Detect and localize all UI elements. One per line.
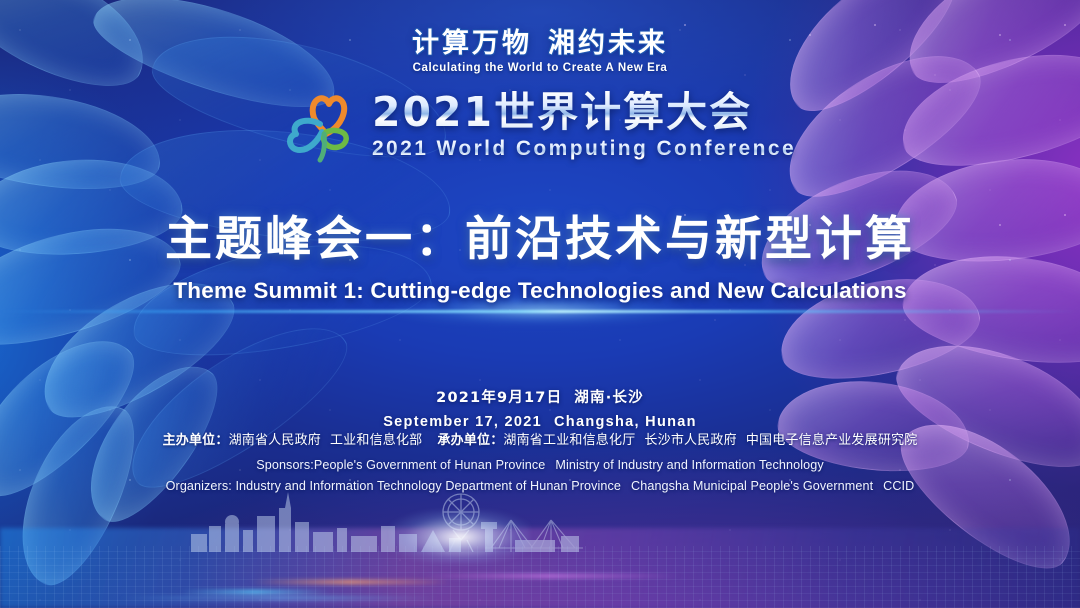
tagline-block: 计算万物湘约未来 Calculating the World to Create… [0,30,1080,74]
sponsor-en-1: People's Government of Hunan Province [314,458,546,472]
organizers-label-en: Organizers: [166,479,232,493]
event-date-english: September 17, 2021Changsha, Hunan [0,414,1080,430]
conference-title-english: 2021 World Computing Conference [372,137,796,161]
tagline-cn-right: 湘约未来 [548,28,668,59]
sponsors-label-cn: 主办单位： [163,433,229,448]
conference-title-chinese: 2021世界计算大会 [372,91,796,134]
tagline-english: Calculating the World to Create A New Er… [0,62,1080,74]
poster-content: 计算万物湘约未来 Calculating the World to Create… [0,0,1080,608]
sponsor-en-2: Ministry of Industry and Information Tec… [555,458,823,472]
organizer-cn-3: 中国电子信息产业发展研究院 [746,433,918,448]
sponsor-cn-2: 工业和信息化部 [330,433,422,448]
sponsors-english-line: Sponsors:People's Government of Hunan Pr… [0,456,1080,476]
conference-poster: 计算万物湘约未来 Calculating the World to Create… [0,0,1080,608]
location-cn-value: 湖南·长沙 [574,390,644,406]
organizer-en-1: Industry and Information Technology Depa… [235,479,621,493]
credits-chinese-line: 主办单位：湖南省人民政府工业和信息化部承办单位：湖南省工业和信息化厅长沙市人民政… [0,432,1080,451]
conference-logo-text: 2021世界计算大会 2021 World Computing Conferen… [372,91,796,160]
summit-title-english: Theme Summit 1: Cutting-edge Technologie… [0,278,1080,304]
organizer-cn-2: 长沙市人民政府 [644,433,736,448]
sponsors-label-en: Sponsors: [256,458,314,472]
butterfly-flower-logo-icon [284,88,358,164]
event-date-chinese: 2021年9月17日湖南·长沙 [0,386,1080,407]
summit-title-chinese: 主题峰会一：前沿技术与新型计算 [0,214,1080,266]
event-date-block: 2021年9月17日湖南·长沙 September 17, 2021Changs… [0,386,1080,430]
conference-logo-lockup: 2021世界计算大会 2021 World Computing Conferen… [0,88,1080,164]
credits-block: 主办单位：湖南省人民政府工业和信息化部承办单位：湖南省工业和信息化厅长沙市人民政… [0,432,1080,497]
date-cn-value: 2021年9月17日 [436,390,562,406]
organizer-en-3: CCID [883,479,914,493]
tagline-chinese: 计算万物湘约未来 [0,30,1080,57]
date-en-value: September 17, 2021 [383,414,542,430]
organizer-en-2: Changsha Municipal People's Government [631,479,873,493]
organizers-label-cn: 承办单位： [437,433,503,448]
tagline-cn-left: 计算万物 [412,28,532,59]
summit-headline-block: 主题峰会一：前沿技术与新型计算 Theme Summit 1: Cutting-… [0,214,1080,304]
organizers-english-line: Organizers: Industry and Information Tec… [0,477,1080,497]
location-en-value: Changsha, Hunan [554,414,697,430]
sponsor-cn-1: 湖南省人民政府 [229,433,321,448]
organizer-cn-1: 湖南省工业和信息化厅 [503,433,635,448]
